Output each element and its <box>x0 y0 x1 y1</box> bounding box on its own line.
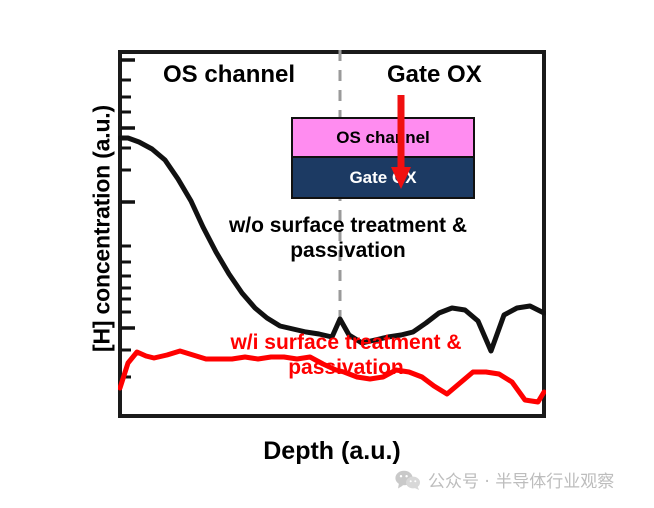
inset-stack-diagram: OS channel Gate OX <box>291 117 475 199</box>
annotation-without-treatment: w/o surface treatment & passivation <box>188 214 508 264</box>
region-label-os-channel: OS channel <box>163 61 295 89</box>
x-axis-title: Depth (a.u.) <box>118 437 546 466</box>
y-axis-title: [H] concentration (a.u.) <box>89 49 116 409</box>
watermark: 公众号 · 半导体行业观察 <box>395 467 614 492</box>
annotation-without-treatment-line2: passivation <box>188 239 508 264</box>
figure-root: [H] concentration (a.u.) <box>0 0 654 508</box>
wechat-icon <box>395 470 421 490</box>
watermark-text: 公众号 · 半导体行业观察 <box>428 467 614 492</box>
y-axis-ticks <box>121 60 135 377</box>
annotation-with-treatment: w/i surface treatment & passivation <box>186 331 506 381</box>
region-label-gate-ox: Gate OX <box>387 61 482 89</box>
annotation-with-treatment-line1: w/i surface treatment & <box>186 331 506 356</box>
inset-layer-os-channel: OS channel <box>293 119 473 158</box>
annotation-without-treatment-line1: w/o surface treatment & <box>188 214 508 239</box>
annotation-with-treatment-line2: passivation <box>186 356 506 381</box>
inset-layer-gate-ox: Gate OX <box>293 158 473 197</box>
